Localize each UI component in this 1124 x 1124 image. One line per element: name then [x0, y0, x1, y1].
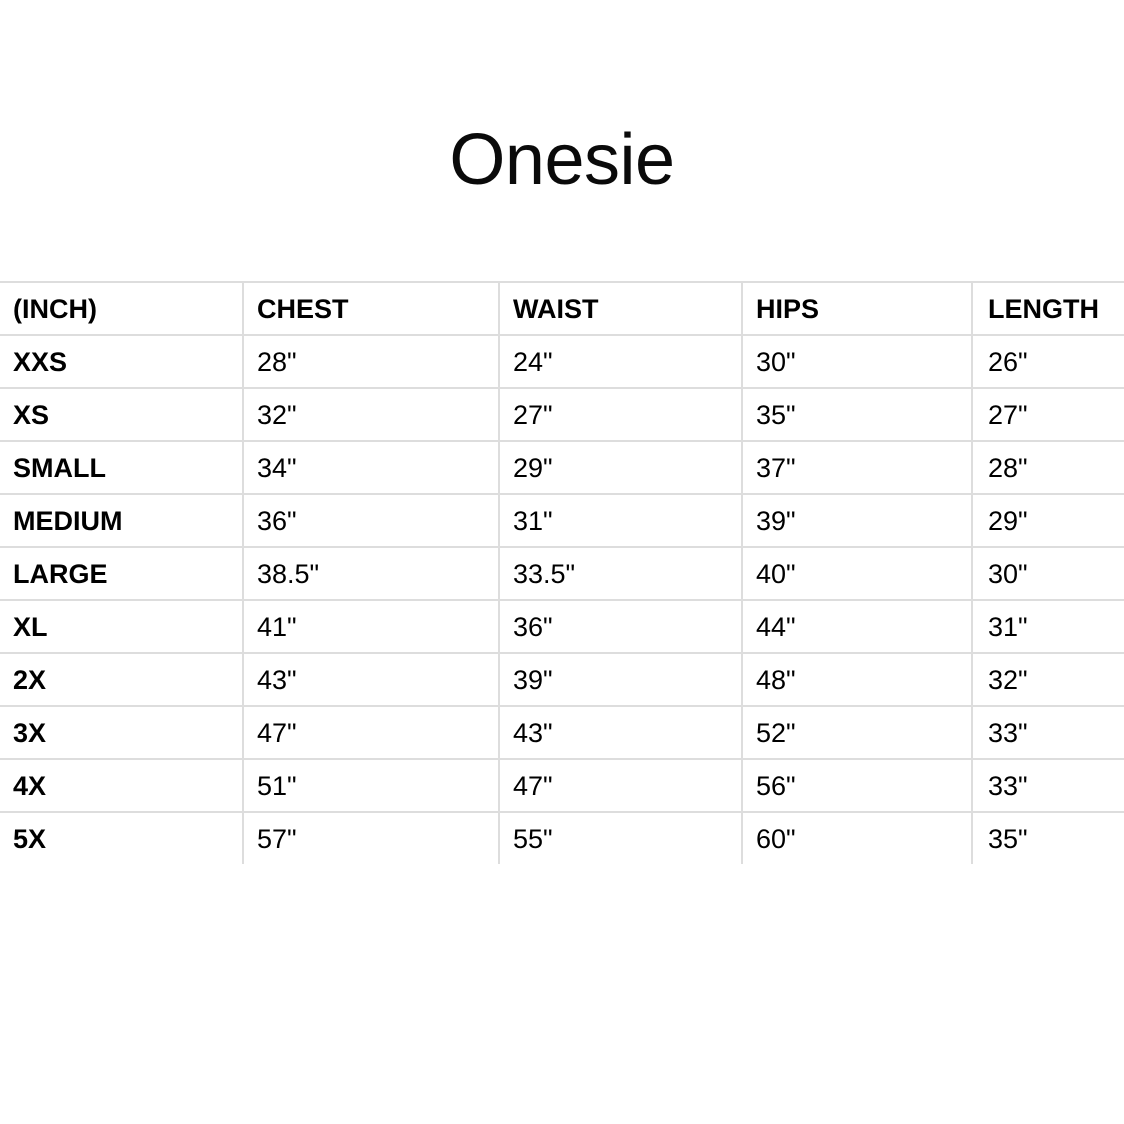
table-row: XL 41" 36" 44" 31" [0, 600, 1124, 653]
cell-hips: 44" [742, 600, 972, 653]
cell-waist: 36" [499, 600, 742, 653]
cell-waist: 31" [499, 494, 742, 547]
cell-size: 5X [0, 812, 243, 864]
cell-waist: 43" [499, 706, 742, 759]
table-header-row: (INCH) CHEST WAIST HIPS LENGTH [0, 282, 1124, 335]
cell-waist: 27" [499, 388, 742, 441]
cell-chest: 41" [243, 600, 499, 653]
cell-chest: 36" [243, 494, 499, 547]
cell-waist: 39" [499, 653, 742, 706]
table-row: 5X 57" 55" 60" 35" [0, 812, 1124, 864]
cell-length: 33" [972, 759, 1124, 812]
cell-waist: 47" [499, 759, 742, 812]
cell-chest: 51" [243, 759, 499, 812]
cell-chest: 34" [243, 441, 499, 494]
cell-size: 4X [0, 759, 243, 812]
table-row: SMALL 34" 29" 37" 28" [0, 441, 1124, 494]
cell-length: 33" [972, 706, 1124, 759]
cell-chest: 28" [243, 335, 499, 388]
cell-length: 30" [972, 547, 1124, 600]
cell-waist: 24" [499, 335, 742, 388]
table-row: 2X 43" 39" 48" 32" [0, 653, 1124, 706]
table-header: (INCH) CHEST WAIST HIPS LENGTH [0, 282, 1124, 335]
table-body: XXS 28" 24" 30" 26" XS 32" 27" 35" 27" S… [0, 335, 1124, 864]
cell-hips: 37" [742, 441, 972, 494]
cell-hips: 40" [742, 547, 972, 600]
cell-chest: 38.5" [243, 547, 499, 600]
table-row: XXS 28" 24" 30" 26" [0, 335, 1124, 388]
cell-size: XXS [0, 335, 243, 388]
cell-waist: 33.5" [499, 547, 742, 600]
cell-hips: 39" [742, 494, 972, 547]
cell-size: 2X [0, 653, 243, 706]
size-chart-table: (INCH) CHEST WAIST HIPS LENGTH XXS 28" 2… [0, 281, 1124, 864]
cell-size: XL [0, 600, 243, 653]
cell-length: 31" [972, 600, 1124, 653]
cell-length: 28" [972, 441, 1124, 494]
cell-hips: 52" [742, 706, 972, 759]
cell-hips: 30" [742, 335, 972, 388]
cell-size: SMALL [0, 441, 243, 494]
cell-size: XS [0, 388, 243, 441]
cell-hips: 48" [742, 653, 972, 706]
column-header-length: LENGTH [972, 282, 1124, 335]
cell-hips: 35" [742, 388, 972, 441]
cell-waist: 55" [499, 812, 742, 864]
size-chart-container: (INCH) CHEST WAIST HIPS LENGTH XXS 28" 2… [0, 281, 1124, 864]
cell-chest: 47" [243, 706, 499, 759]
size-chart-page: Onesie (INCH) CHEST WAIST HIPS LENGTH [0, 0, 1124, 1124]
cell-hips: 56" [742, 759, 972, 812]
cell-length: 32" [972, 653, 1124, 706]
column-header-chest: CHEST [243, 282, 499, 335]
cell-length: 26" [972, 335, 1124, 388]
cell-chest: 57" [243, 812, 499, 864]
cell-size: LARGE [0, 547, 243, 600]
cell-chest: 32" [243, 388, 499, 441]
column-header-unit: (INCH) [0, 282, 243, 335]
cell-length: 29" [972, 494, 1124, 547]
cell-waist: 29" [499, 441, 742, 494]
table-row: LARGE 38.5" 33.5" 40" 30" [0, 547, 1124, 600]
cell-length: 27" [972, 388, 1124, 441]
cell-chest: 43" [243, 653, 499, 706]
table-row: 3X 47" 43" 52" 33" [0, 706, 1124, 759]
column-header-waist: WAIST [499, 282, 742, 335]
page-title: Onesie [0, 118, 1124, 202]
cell-size: MEDIUM [0, 494, 243, 547]
cell-hips: 60" [742, 812, 972, 864]
column-header-hips: HIPS [742, 282, 972, 335]
table-row: MEDIUM 36" 31" 39" 29" [0, 494, 1124, 547]
table-row: 4X 51" 47" 56" 33" [0, 759, 1124, 812]
cell-size: 3X [0, 706, 243, 759]
table-row: XS 32" 27" 35" 27" [0, 388, 1124, 441]
cell-length: 35" [972, 812, 1124, 864]
